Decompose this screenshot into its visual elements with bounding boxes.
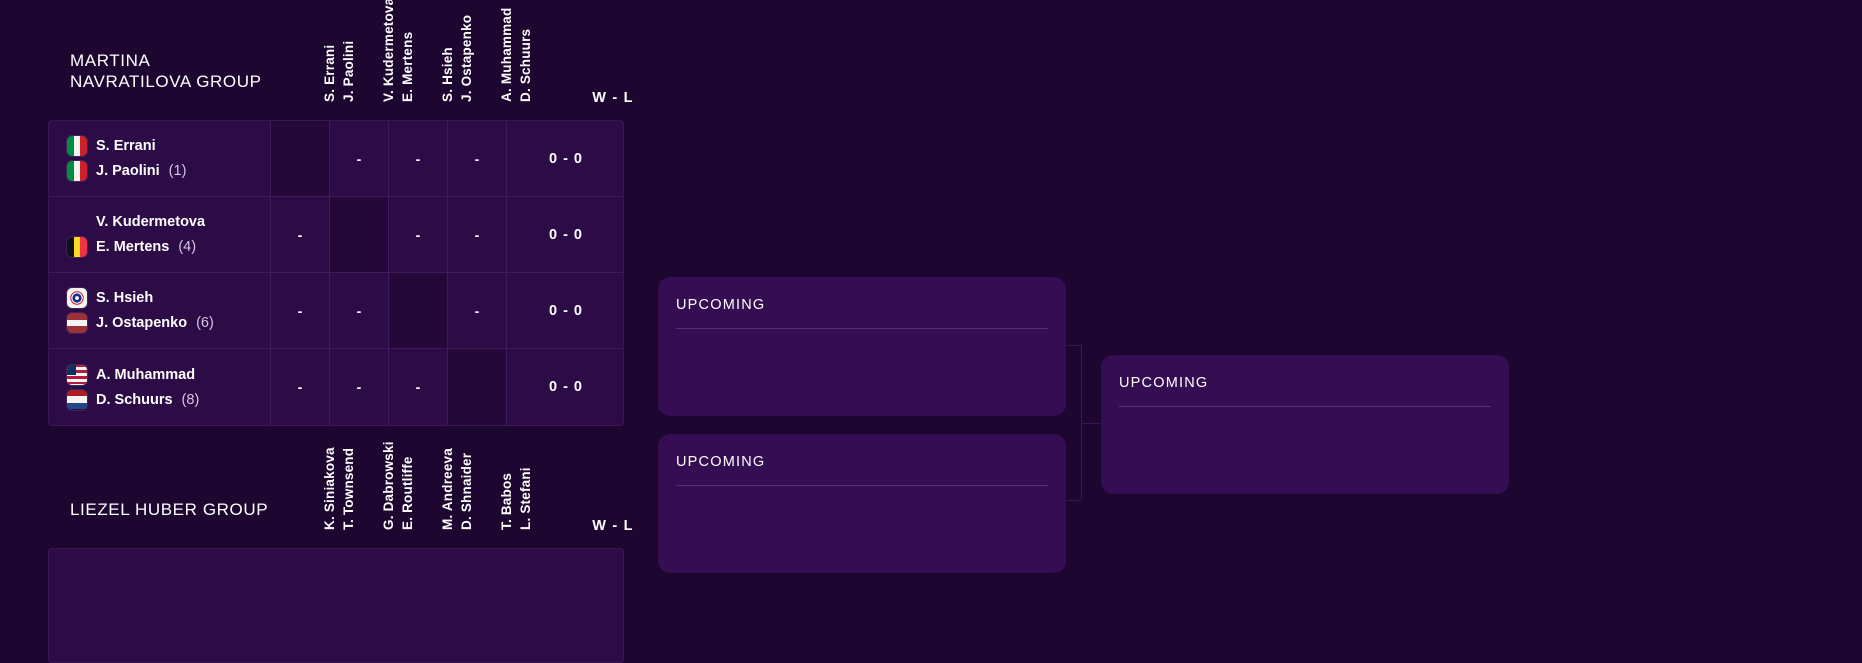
column-header-player-top: A. Muhammad [499,8,514,102]
column-header-errani-paolini: S. Errani J. Paolini [318,0,377,102]
player-row: A. Muhammad [67,364,270,386]
flag-neutral-icon [67,212,87,232]
win-loss-cell: 0 - 0 [507,349,624,425]
score-cell[interactable]: - [271,349,330,425]
column-header-player-bottom: D. Schuurs [518,29,533,102]
group-standings-table: LIEZEL HUBER GROUP K. Siniakova T. Towns… [48,428,624,663]
score-cell[interactable]: - [448,273,507,348]
player-seed: (8) [182,392,200,408]
player-name: S. Hsieh [96,290,153,306]
column-header-player-top: S. Errani [322,45,337,102]
column-header-player-bottom: J. Ostapenko [459,15,474,102]
tournament-bracket-page: MARTINA NAVRATILOVA GROUP S. Errani J. P… [0,0,1862,663]
bracket-connector [1081,423,1103,424]
player-row: E. Mertens (4) [67,236,270,258]
group-title: MARTINA NAVRATILOVA GROUP [70,50,262,92]
match-card-semifinal-1[interactable]: UPCOMING [658,277,1066,416]
player-row: J. Paolini (1) [67,160,270,182]
player-name: D. Schuurs [96,392,173,408]
score-cell[interactable]: - [330,349,389,425]
player-seed: (1) [169,163,187,179]
player-seed: (4) [178,239,196,255]
table-row[interactable]: S. Errani J. Paolini (1) [49,121,623,197]
player-row: S. Errani [67,135,270,157]
player-name: A. Muhammad [96,367,195,383]
column-header-andreeva-shnaider: M. Andreeva D. Shnaider [436,428,495,530]
flag-italy-icon [67,161,87,181]
match-status-label: UPCOMING [1119,375,1491,406]
group-liezel-huber: LIEZEL HUBER GROUP K. Siniakova T. Towns… [48,428,624,663]
win-loss-cell: 0 - 0 [507,273,624,348]
column-header-player-top: V. Kudermetova [381,0,396,102]
score-cell[interactable]: - [448,197,507,272]
player-name: J. Paolini [96,163,160,179]
player-name: V. Kudermetova [96,214,205,230]
group-title: LIEZEL HUBER GROUP [70,499,268,520]
column-header-player-bottom: L. Stefani [518,467,533,530]
column-header-win-loss: W - L [554,90,672,106]
column-header-muhammad-schuurs: A. Muhammad D. Schuurs [495,0,554,102]
table-row[interactable]: V. Kudermetova E. Mertens (4) - [49,197,623,273]
player-name: S. Errani [96,138,156,154]
table-body [48,548,624,663]
column-header-player-bottom: J. Paolini [341,41,356,102]
score-cell-diagonal [330,197,389,272]
score-cell[interactable]: - [271,273,330,348]
match-card-final[interactable]: UPCOMING [1101,355,1509,494]
column-header-dabrowski-routliffe: G. Dabrowski E. Routliffe [377,428,436,530]
column-header-kudermetova-mertens: V. Kudermetova E. Mertens [377,0,436,102]
column-header-player-bottom: D. Shnaider [459,453,474,530]
column-header-player-top: T. Babos [499,473,514,530]
table-body: S. Errani J. Paolini (1) [48,120,624,426]
column-header-win-loss: W - L [554,518,672,534]
flag-usa-icon [67,365,87,385]
column-header-hsieh-ostapenko: S. Hsieh J. Ostapenko [436,0,495,102]
column-header-player-top: S. Hsieh [440,47,455,102]
score-cell[interactable]: - [448,121,507,196]
team-cell[interactable]: V. Kudermetova E. Mertens (4) [49,197,271,272]
player-seed: (6) [196,315,214,331]
team-cell[interactable]: S. Hsieh J. Ostapenko (6) [49,273,271,348]
score-cell[interactable]: - [330,273,389,348]
table-header: MARTINA NAVRATILOVA GROUP S. Errani J. P… [48,0,624,120]
score-cell[interactable]: - [271,197,330,272]
match-divider [676,328,1048,329]
player-name: J. Ostapenko [96,315,187,331]
flag-chinese-taipei-icon [67,288,87,308]
column-header-player-top: G. Dabrowski [381,441,396,530]
chinese-taipei-emblem-icon [70,291,84,305]
flag-latvia-icon [67,313,87,333]
team-cell[interactable]: S. Errani J. Paolini (1) [49,121,271,196]
match-divider [676,485,1048,486]
score-cell[interactable]: - [389,121,448,196]
table-row[interactable]: A. Muhammad D. Schuurs (8) - [49,349,623,425]
table-row[interactable] [49,549,623,625]
score-cell-diagonal [271,121,330,196]
table-row[interactable]: S. Hsieh J. Ostapenko (6) - [49,273,623,349]
score-cell-diagonal [389,273,448,348]
score-cell[interactable]: - [389,197,448,272]
match-card-semifinal-2[interactable]: UPCOMING [658,434,1066,573]
player-row: S. Hsieh [67,287,270,309]
flag-italy-icon [67,136,87,156]
column-header-babos-stefani: T. Babos L. Stefani [495,428,554,530]
player-row: V. Kudermetova [67,211,270,233]
flag-netherlands-icon [67,390,87,410]
win-loss-cell: 0 - 0 [507,197,624,272]
column-header-player-top: K. Siniakova [322,447,337,530]
group-martina-navratilova: MARTINA NAVRATILOVA GROUP S. Errani J. P… [48,0,624,426]
player-row: J. Ostapenko (6) [67,312,270,334]
win-loss-cell: 0 - 0 [507,121,624,196]
score-cell[interactable]: - [330,121,389,196]
match-status-label: UPCOMING [676,454,1048,485]
column-header-player-bottom: T. Townsend [341,448,356,530]
table-header: LIEZEL HUBER GROUP K. Siniakova T. Towns… [48,428,624,548]
match-status-label: UPCOMING [676,297,1048,328]
column-header-player-bottom: E. Routliffe [400,456,415,530]
score-cell-diagonal [448,349,507,425]
match-divider [1119,406,1491,407]
player-name: E. Mertens [96,239,169,255]
column-header-player-top: M. Andreeva [440,448,455,530]
team-cell[interactable]: A. Muhammad D. Schuurs (8) [49,349,271,425]
player-row: D. Schuurs (8) [67,389,270,411]
group-standings-table: MARTINA NAVRATILOVA GROUP S. Errani J. P… [48,0,624,426]
flag-belgium-icon [67,237,87,257]
score-cell[interactable]: - [389,349,448,425]
column-header-siniakova-townsend: K. Siniakova T. Townsend [318,428,377,530]
column-header-player-bottom: E. Mertens [400,32,415,102]
